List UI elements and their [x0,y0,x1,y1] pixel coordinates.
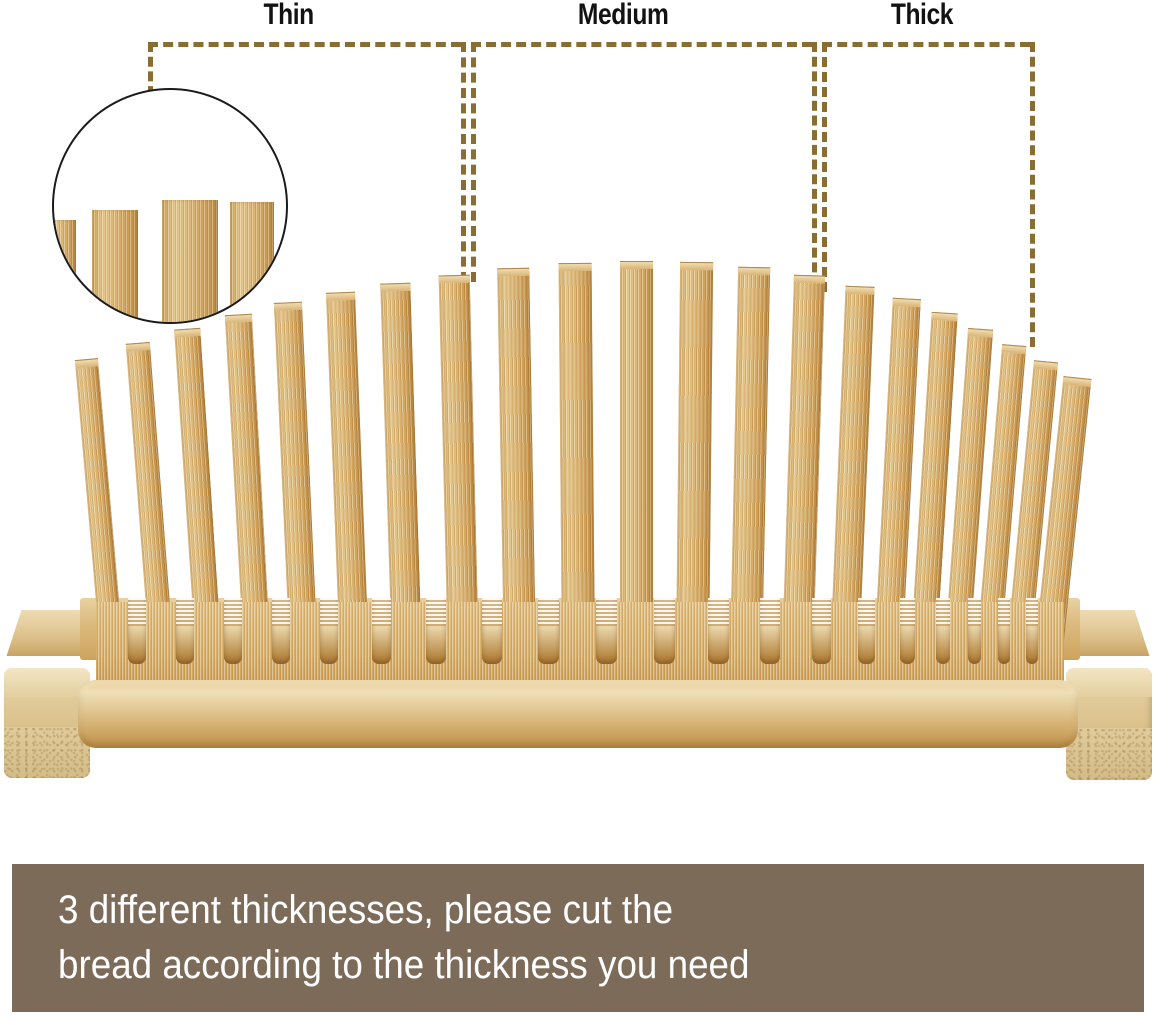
comb-slot-lines [1026,598,1038,626]
bracket-thick-top [822,42,1030,47]
comb-slot-lines [812,598,831,626]
caption-line-2: bread according to the thickness you nee… [58,938,1057,993]
slat [620,261,653,658]
bamboo-bread-slicer [0,280,1156,820]
comb-slot-lines [482,598,502,626]
comb-slot-lines [968,598,981,626]
comb-slot-lines [128,598,146,626]
caption-banner: 3 different thicknesses, please cut the … [12,864,1144,1012]
right-foot-top [1066,668,1152,697]
left-foot-endgrain [4,727,90,778]
comb-slot-lines [538,598,559,626]
bracket-medium-left-leg [471,42,476,282]
bracket-thick-left-leg [822,42,827,292]
comb-slot-lines [320,598,338,626]
zone-label-thin: Thin [264,0,314,32]
comb-slot-lines [176,598,194,626]
right-foot-endgrain [1066,728,1152,780]
comb-slot-lines [372,598,391,626]
comb-slot-lines [900,598,915,626]
comb-slot-lines [998,598,1010,626]
slat [497,268,536,658]
infographic-canvas: Thin Medium Thick [0,0,1156,1022]
comb-slot-lines [224,598,242,626]
comb-slot-lines [936,598,950,626]
zone-label-medium: Medium [578,0,668,32]
bracket-medium-top [471,42,812,47]
comb-slot-lines [426,598,446,626]
comb-slot-lines [654,598,675,626]
comb-slot-lines [272,598,290,626]
comb-slot-lines [858,598,875,626]
bracket-thin-top [148,42,461,47]
comb-slot-lines [708,598,729,626]
bracket-thin-right-leg [461,42,466,282]
zone-label-thick: Thick [891,0,953,32]
right-foot [1066,668,1152,780]
bracket-medium-right-leg [812,42,817,287]
slat [559,263,595,658]
comb-slot-lines [596,598,617,626]
comb-slot-lines [760,598,780,626]
left-foot-top [4,668,90,697]
caption-line-1: 3 different thicknesses, please cut the [58,883,1057,938]
base-rail [78,680,1078,748]
